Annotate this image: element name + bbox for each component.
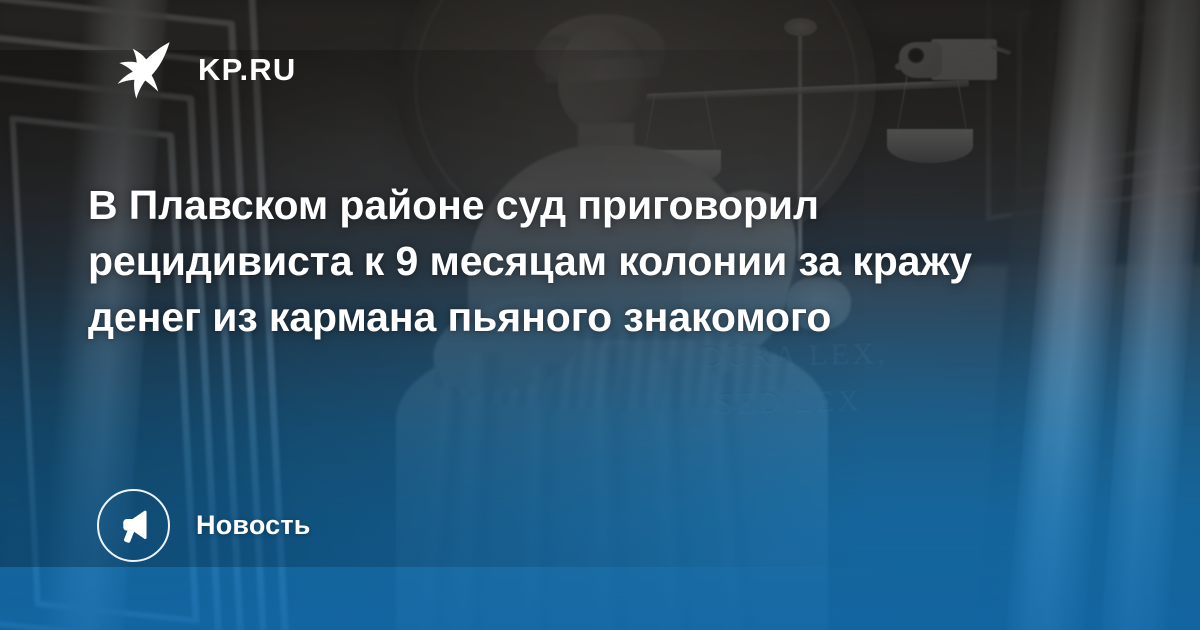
badge-label: Новость xyxy=(196,510,311,541)
megaphone-icon xyxy=(115,507,153,545)
news-share-card: DURA LEX, SED LEX KP.RU В Плавском район… xyxy=(0,0,1200,630)
swallow-bird-icon xyxy=(110,38,172,100)
badge-icon-circle xyxy=(97,489,170,562)
page-title: В Плавском районе суд приговорил рецидив… xyxy=(88,178,1038,345)
card-content: KP.RU В Плавском районе суд приговорил р… xyxy=(0,0,1200,630)
status-badge[interactable]: Новость xyxy=(97,489,311,562)
brand-logo[interactable]: KP.RU xyxy=(110,38,296,100)
brand-wordmark: KP.RU xyxy=(198,54,296,85)
